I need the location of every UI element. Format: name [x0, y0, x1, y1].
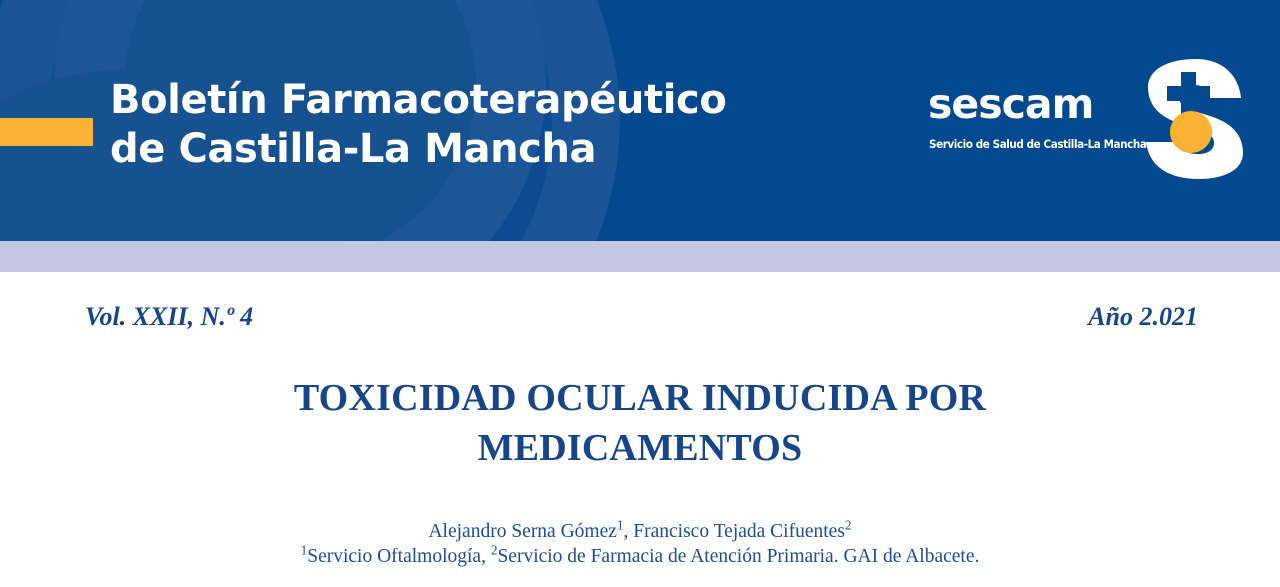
article-title-line-1: TOXICIDAD OCULAR INDUCIDA POR	[294, 377, 986, 419]
authors-affiliations: 1Servicio Oftalmología, 2Servicio de Far…	[40, 544, 1240, 569]
sescam-s-monogram-icon	[1124, 58, 1244, 180]
sescam-tagline: Servicio de Salud de Castilla-La Mancha	[929, 139, 1122, 151]
affiliation-one-text: Servicio Oftalmología,	[307, 546, 491, 567]
accent-bar	[0, 118, 93, 146]
issue-line: Vol. XXII, N.º 4 Año 2.021	[0, 300, 1280, 334]
issue-volume: Vol. XXII, N.º 4	[85, 300, 253, 334]
masthead-title-line-2: de Castilla-La Mancha	[110, 125, 726, 174]
sescam-logo: sescam Servicio de Salud de Castilla-La …	[928, 58, 1244, 180]
masthead-title-line-1: Boletín Farmacoterapéutico	[110, 77, 726, 123]
sescam-wordmark: sescam	[928, 84, 1128, 125]
article-title-line-2: MEDICAMENTOS	[478, 427, 803, 469]
masthead-subband	[0, 241, 1280, 272]
masthead-banner: Boletín Farmacoterapéutico de Castilla-L…	[0, 0, 1280, 241]
author-two-affiliation-marker: 2	[845, 518, 852, 533]
issue-year: Año 2.021	[1088, 300, 1198, 334]
author-two-name: , Francisco Tejada Cifuentes	[624, 521, 845, 542]
author-one-name: Alejandro Serna Gómez	[428, 521, 616, 542]
masthead-title: Boletín Farmacoterapéutico de Castilla-L…	[110, 76, 726, 174]
authors-block: Alejandro Serna Gómez1, Francisco Tejada…	[40, 519, 1240, 569]
authors-names: Alejandro Serna Gómez1, Francisco Tejada…	[40, 519, 1240, 544]
affiliation-two-text: Servicio de Farmacia de Atención Primari…	[497, 546, 979, 567]
author-one-affiliation-marker: 1	[617, 518, 624, 533]
article-title: TOXICIDAD OCULAR INDUCIDA POR MEDICAMENT…	[140, 373, 1140, 473]
